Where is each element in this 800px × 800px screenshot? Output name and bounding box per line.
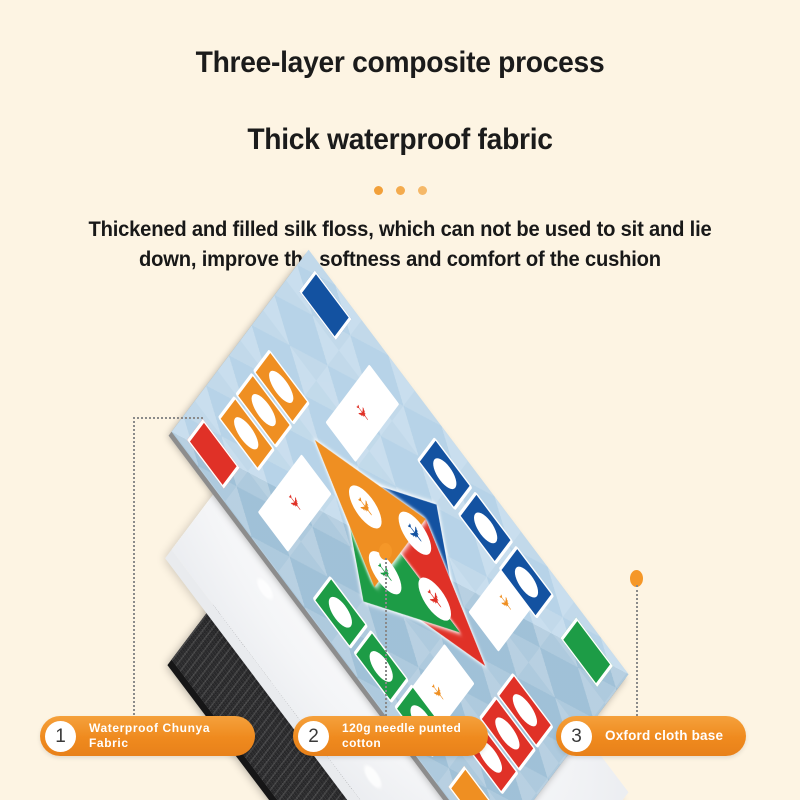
page-subtitle: Thick waterproof fabric [24,123,776,156]
legend-badge-needle-punted-cotton[interactable]: 2 120g needle punted cotton [293,716,488,756]
separator-dot-icon [418,186,427,195]
badge-number: 1 [45,721,76,752]
page-title: Three-layer composite process [24,46,776,79]
legend-badge-waterproof-chunya-fabric[interactable]: 1 Waterproof Chunya Fabric [40,716,255,756]
connector-dot-layer3 [630,570,643,587]
separator-dot-icon [374,186,383,195]
badge-number: 2 [298,721,329,752]
badge-number: 3 [561,721,592,752]
badge-label: Oxford cloth base [605,728,723,745]
body-description: Thickened and filled silk floss, which c… [16,215,784,275]
legend-badge-oxford-cloth-base[interactable]: 3 Oxford cloth base [556,716,746,756]
exploded-layer-diagram: ✈ ✈ ✈ ✈ [0,300,800,700]
board-corner-home [560,617,613,687]
separator-dot-icon [396,186,405,195]
dot-separator [0,186,800,195]
badge-label: 120g needle punted cotton [342,721,470,751]
connector-line-layer1 [133,417,135,747]
board-corner-home [299,270,352,340]
badge-label: Waterproof Chunya Fabric [89,721,237,751]
layer-legend: 1 Waterproof Chunya Fabric 2 120g needle… [0,716,800,762]
header-text-block: Three-layer composite process Thick wate… [0,0,800,275]
board-track-orange [218,349,310,471]
